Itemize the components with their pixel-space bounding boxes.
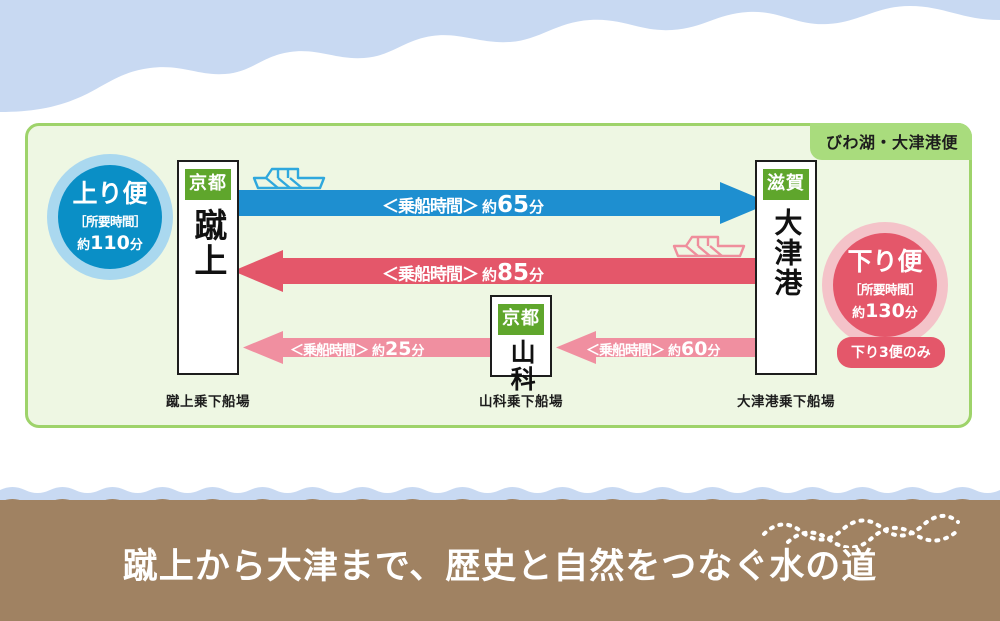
downbound-badge-sub: ［所要時間］ [849,279,921,298]
station-prefecture-keage: 京都 [185,169,231,200]
cloud-shape [0,0,1000,135]
station-caption-yamashina: 山科乗下船場 [475,390,567,410]
boat-icon-up [252,165,326,191]
station-name-otsu: 大津港 [771,208,802,298]
downbound-badge: 下り便 ［所要時間］ 約130分 [833,233,937,337]
route-label-down-otsu-keage: ＜乗船時間＞約85分 [382,262,544,285]
boat-icon-down [672,233,746,259]
poster-stage: びわ湖・大津港便 ＜乗船時間＞約65分 ＜乗船時間＞約85分 ＜乗船時間＞約25… [0,0,1000,621]
upbound-badge-sub: ［所要時間］ [74,211,146,230]
upbound-badge-title: 上り便 [72,180,147,208]
station-prefecture-otsu: 滋賀 [763,169,809,200]
station-box-yamashina: 京都 山科 [490,295,552,377]
upbound-badge: 上り便 ［所要時間］ 約110分 [58,165,162,269]
downbound-badge-title: 下り便 [847,248,922,276]
station-prefecture-yamashina: 京都 [498,304,544,335]
station-name-keage: 蹴上 [190,208,226,278]
route-label-down-yamashina-keage: ＜乗船時間＞約25分 [290,340,424,359]
station-name-yamashina: 山科 [508,339,534,393]
station-caption-keage: 蹴上乗下船場 [162,390,254,410]
station-caption-otsu: 大津港乗下船場 [716,390,856,410]
upbound-badge-time: 約110分 [77,232,143,254]
poster-caption: 蹴上から大津まで、歴史と自然をつなぐ水の道 [0,538,1000,589]
station-box-otsu: 滋賀 大津港 [755,160,817,375]
route-label-up-keage-otsu: ＜乗船時間＞約65分 [382,194,544,217]
panel-title: びわ湖・大津港便 [810,123,972,160]
downbound-badge-time: 約130分 [852,300,918,322]
route-label-down-otsu-yamashina: ＜乗船時間＞約60分 [586,340,720,359]
station-box-keage: 京都 蹴上 [177,160,239,375]
downbound-note-pill: 下り3便のみ [837,337,945,368]
